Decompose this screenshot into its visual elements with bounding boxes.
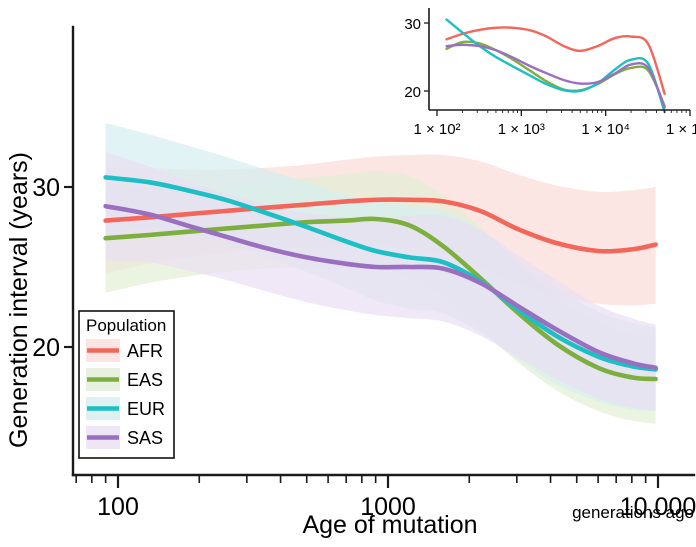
inset-x-tick-label: 1 × 10³ bbox=[498, 121, 545, 138]
inset-chart: 3020 1 × 10²1 × 10³1 × 10⁴1 × 10⁵ bbox=[404, 8, 696, 138]
x-axis-label: Age of mutation bbox=[302, 511, 477, 539]
legend-item-label: AFR bbox=[127, 341, 163, 361]
inset-y-tick-label: 20 bbox=[404, 84, 421, 101]
inset-x-tick-label: 1 × 10⁵ bbox=[666, 121, 696, 138]
x-tick-label: 100 bbox=[97, 493, 139, 521]
legend-item-label: EAS bbox=[127, 370, 163, 390]
inset-x-tick-label: 1 × 10² bbox=[413, 121, 460, 138]
inset-x-tick-label: 1 × 10⁴ bbox=[581, 121, 630, 138]
inset-series-lines bbox=[447, 20, 665, 112]
inset-series-line-sas bbox=[447, 45, 665, 108]
y-tick-label: 30 bbox=[32, 174, 60, 202]
y-axis-ticks: 3020 bbox=[32, 174, 73, 362]
y-axis-label: Generation interval (years) bbox=[5, 152, 33, 448]
x-axis-sublabel: generations ago bbox=[572, 503, 694, 522]
legend-item-label: EUR bbox=[127, 399, 165, 419]
legend[interactable]: Population AFREASEURSAS bbox=[79, 311, 174, 458]
figure-root: 3020 100100010,000 Generation interval (… bbox=[0, 0, 696, 547]
inset-x-ticks: 1 × 10²1 × 10³1 × 10⁴1 × 10⁵ bbox=[413, 110, 696, 138]
inset-y-tick-label: 30 bbox=[404, 16, 421, 33]
inset-y-ticks: 3020 bbox=[404, 16, 429, 101]
y-tick-label: 20 bbox=[32, 334, 60, 362]
inset-series-line-eur bbox=[447, 20, 665, 112]
inset-series-line-eas bbox=[447, 42, 665, 106]
chart-svg: 3020 100100010,000 Generation interval (… bbox=[0, 0, 696, 547]
legend-title: Population bbox=[86, 316, 166, 335]
confidence-bands-layer bbox=[106, 123, 656, 424]
legend-item-label: SAS bbox=[127, 428, 163, 448]
